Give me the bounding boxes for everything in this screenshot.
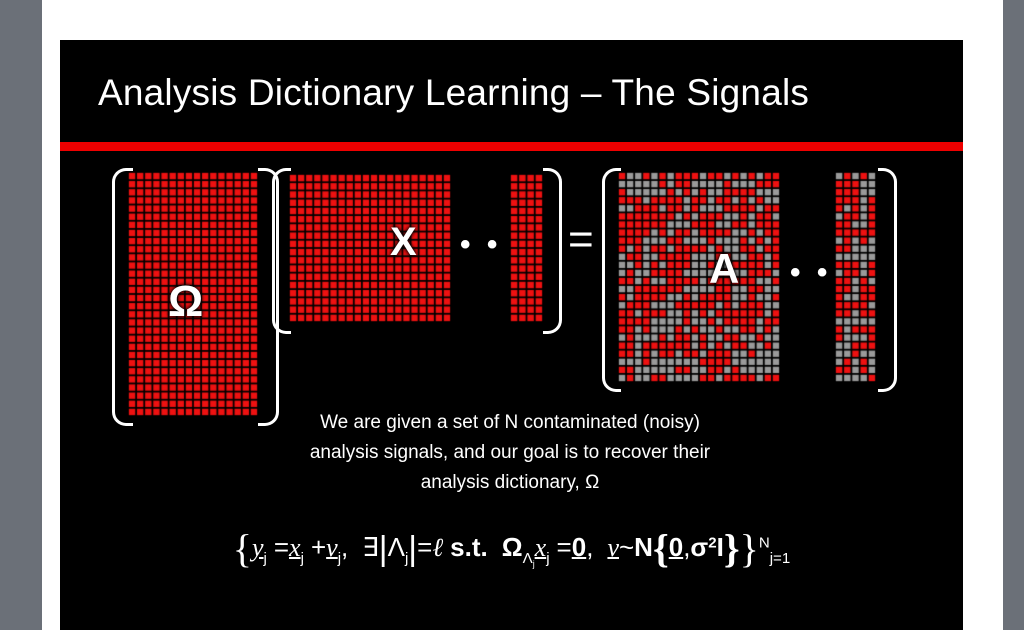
formula-y-sub: j xyxy=(264,550,267,567)
formula-v-2: v xyxy=(607,533,619,562)
formula-x: x xyxy=(289,533,301,562)
formula-eq-2: = xyxy=(417,532,432,562)
formula-x-2: x xyxy=(535,533,547,562)
viewer-left-gutter xyxy=(0,0,42,630)
formula-x-sub: j xyxy=(301,550,304,567)
matrix-a-block xyxy=(618,172,780,382)
slide-viewer: Analysis Dictionary Learning – The Signa… xyxy=(0,0,1024,630)
formula-comma-2: , xyxy=(586,532,593,562)
slide-caption: We are given a set of N contaminated (no… xyxy=(260,408,760,498)
matrix-omega-label: Ω xyxy=(168,280,203,324)
formula-plus: + xyxy=(311,532,326,562)
formula-ell: ℓ xyxy=(432,533,443,562)
formula-sigma-sq: 2 xyxy=(708,535,716,552)
formula-sup-N: N xyxy=(759,535,770,552)
formula-v: v xyxy=(326,533,338,562)
caption-line-1: We are given a set of N contaminated (no… xyxy=(260,408,760,438)
formula-inner-close-brace: } xyxy=(724,526,740,571)
matrix-a-label: A xyxy=(709,248,739,290)
matrix-x-block xyxy=(289,174,451,322)
slide-canvas: Analysis Dictionary Learning – The Signa… xyxy=(60,40,963,630)
formula-normal-N: N xyxy=(634,532,653,562)
formula-comma-1: , xyxy=(341,532,348,562)
formula-sub-j1: j=1 xyxy=(770,550,791,567)
formula-tilde: ~ xyxy=(619,532,634,562)
formula-zero-1: 0 xyxy=(572,532,586,562)
formula-expression: {yj=xj+vj,∃|Λj|=ℓs.t.ΩΛjxj=0,v~N{0,σ2I}}… xyxy=(60,525,963,572)
formula-exists: ∃ xyxy=(362,532,378,562)
formula-close-brace: } xyxy=(740,526,759,571)
formula-omega-sub: Λj xyxy=(523,550,535,567)
formula-lambda: Λ xyxy=(388,532,405,562)
a-bracket-right xyxy=(878,168,897,392)
title-divider-rule xyxy=(60,142,963,151)
x-bracket-right xyxy=(543,168,562,334)
formula-zero-2: 0 xyxy=(669,532,683,562)
matrix-x-label: X xyxy=(390,222,417,262)
caption-line-2: analysis signals, and our goal is to rec… xyxy=(260,438,760,468)
page-title: Analysis Dictionary Learning – The Signa… xyxy=(98,72,928,114)
formula-eq-3: = xyxy=(557,532,572,562)
matrix-x-column xyxy=(510,174,543,322)
formula-st: s.t. xyxy=(450,532,488,562)
formula-sigma: σ xyxy=(690,532,708,562)
formula-omega: Ω xyxy=(502,532,523,562)
formula-bar-close: | xyxy=(408,530,417,568)
formula-identity: I xyxy=(717,532,724,562)
formula-x2-sub: j xyxy=(546,550,549,567)
viewer-right-gutter xyxy=(1003,0,1024,630)
formula-open-brace: { xyxy=(233,526,252,571)
caption-line-3: analysis dictionary, Ω xyxy=(260,468,760,498)
equals-sign: = xyxy=(568,218,594,262)
formula-y: y xyxy=(252,533,264,562)
formula-inner-open-brace: { xyxy=(653,526,669,571)
matrix-a-column xyxy=(835,172,876,382)
formula-bar-open: | xyxy=(379,530,388,568)
formula-eq-1: = xyxy=(274,532,289,562)
